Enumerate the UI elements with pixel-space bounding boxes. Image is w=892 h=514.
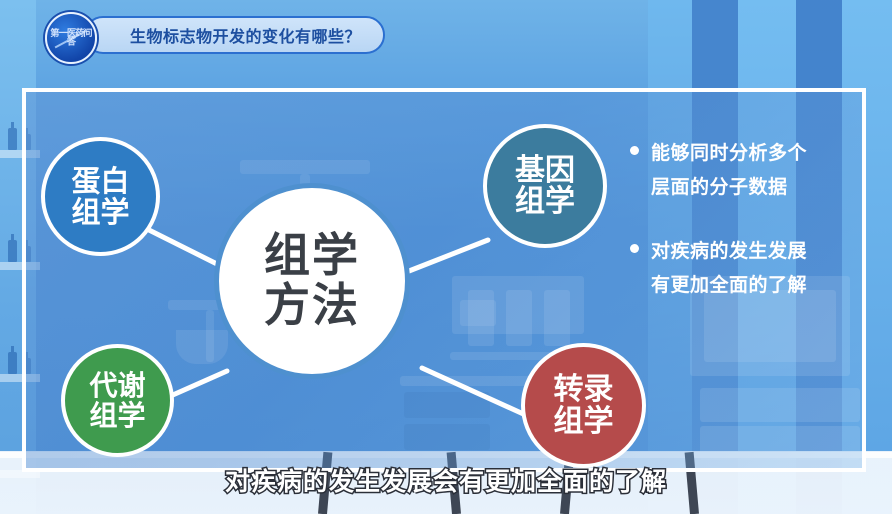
header-title-badge: 生物标志物开发的变化有哪些？ xyxy=(84,16,385,54)
bullet-line1: 能够同时分析多个 xyxy=(651,142,807,164)
node-label-line1: 转录 xyxy=(554,374,614,406)
node-label-line1: 基因 xyxy=(515,155,575,187)
node-label-line2: 组学 xyxy=(71,197,129,227)
bullet-line2: 有更加全面的了解 xyxy=(651,274,807,296)
node-genomics[interactable]: 基因 组学 xyxy=(483,124,607,248)
center-label-line2: 方法 xyxy=(264,281,360,331)
bullet-line1: 对疾病的发生发展 xyxy=(651,240,807,262)
node-proteomics[interactable]: 蛋白 组学 xyxy=(41,137,160,256)
node-label-line1: 蛋白 xyxy=(71,166,129,196)
slide-canvas: 生物标志物开发的变化有哪些？ 第一医药问答 蛋白 组学 基因 组学 代谢 组学 … xyxy=(0,0,892,514)
node-transcriptomics[interactable]: 转录 组学 xyxy=(521,343,646,468)
node-label-line2: 组学 xyxy=(554,406,614,438)
node-metabolomics[interactable]: 代谢 组学 xyxy=(61,344,174,457)
bullet-line2: 层面的分子数据 xyxy=(651,176,788,198)
node-label-line2: 组学 xyxy=(515,186,575,218)
bullet-dot-icon xyxy=(630,146,639,155)
node-label-line2: 组学 xyxy=(89,401,145,430)
logo-text: 第一医药问答 xyxy=(49,30,93,47)
bullet-dot-icon xyxy=(630,244,639,253)
page-title: 生物标志物开发的变化有哪些？ xyxy=(130,23,361,47)
benefits-list: 能够同时分析多个 层面的分子数据 对疾病的发生发展 有更加全面的了解 xyxy=(630,136,868,332)
center-label-line1: 组学 xyxy=(264,231,360,281)
brand-logo-icon[interactable]: 第一医药问答 xyxy=(45,12,97,64)
list-item: 对疾病的发生发展 有更加全面的了解 xyxy=(630,234,868,302)
list-item: 能够同时分析多个 层面的分子数据 xyxy=(630,136,868,204)
subtitle-caption: 对疾病的发生发展会有更加全面的了解 xyxy=(0,462,892,498)
node-center-omics-methods[interactable]: 组学 方法 xyxy=(214,183,410,379)
node-label-line1: 代谢 xyxy=(89,371,145,400)
